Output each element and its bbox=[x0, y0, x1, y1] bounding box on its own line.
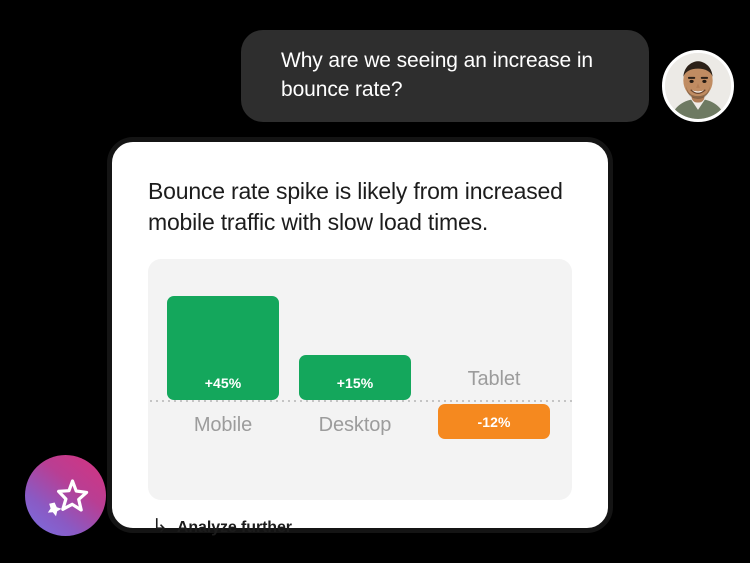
chart-column-mobile: +45% Mobile bbox=[167, 259, 298, 500]
bar-desktop[interactable]: +15% bbox=[299, 355, 411, 400]
bar-value-desktop: +15% bbox=[337, 376, 374, 400]
user-message-text: Why are we seeing an increase in bounce … bbox=[281, 47, 623, 105]
bar-mobile[interactable]: +45% bbox=[167, 296, 279, 400]
bar-tablet[interactable]: -12% bbox=[438, 404, 550, 439]
user-avatar-photo-icon bbox=[665, 53, 731, 119]
bar-chart-panel: +45% Mobile +15% Desktop Tablet -12% bbox=[148, 259, 572, 500]
user-message-bubble: Why are we seeing an increase in bounce … bbox=[241, 30, 649, 122]
brand-sparkle-badge[interactable] bbox=[25, 455, 106, 536]
bar-value-tablet: -12% bbox=[477, 415, 510, 429]
category-label-mobile: Mobile bbox=[167, 415, 279, 435]
analyze-further-link[interactable]: ↳ Analyze further bbox=[148, 518, 292, 537]
avatar[interactable] bbox=[662, 50, 734, 122]
chart-column-desktop: +15% Desktop bbox=[299, 259, 430, 500]
arrow-turn-down-right-icon: ↳ bbox=[152, 517, 168, 536]
assistant-answer-card: Bounce rate spike is likely from increas… bbox=[107, 137, 613, 533]
chart-column-tablet: Tablet -12% bbox=[438, 259, 569, 500]
answer-heading: Bounce rate spike is likely from increas… bbox=[148, 176, 572, 237]
sparkle-star-icon bbox=[40, 470, 92, 522]
category-label-tablet: Tablet bbox=[438, 369, 550, 389]
analyze-further-label: Analyze further bbox=[177, 519, 292, 537]
category-label-desktop: Desktop bbox=[299, 415, 411, 435]
bar-value-mobile: +45% bbox=[205, 376, 242, 400]
